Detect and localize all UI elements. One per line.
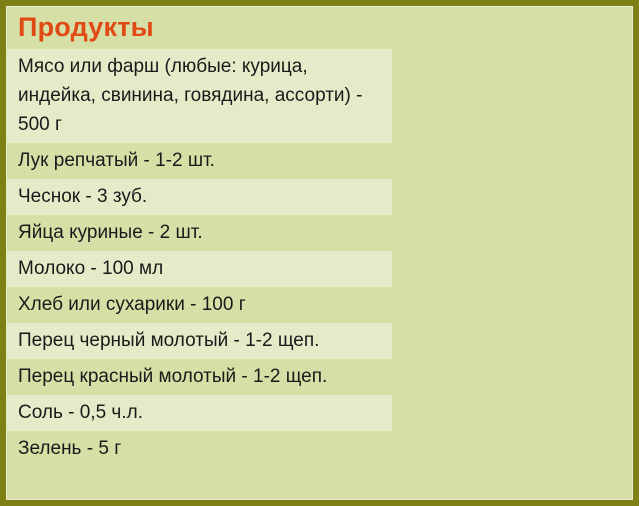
list-item: Яйца куриные - 2 шт. — [6, 215, 392, 251]
list-item: Чеснок - 3 зуб. — [6, 179, 392, 215]
ingredients-panel: Продукты Мясо или фарш (любые: курица, и… — [0, 0, 639, 506]
list-item: Молоко - 100 мл — [6, 251, 392, 287]
list-item: Мясо или фарш (любые: курица, индейка, с… — [6, 49, 392, 143]
page-title: Продукты — [6, 6, 633, 42]
ingredients-panel-body: Продукты Мясо или фарш (любые: курица, и… — [6, 6, 633, 500]
list-item: Хлеб или сухарики - 100 г — [6, 287, 392, 323]
list-item: Соль - 0,5 ч.л. — [6, 395, 392, 431]
ingredients-list: Мясо или фарш (любые: курица, индейка, с… — [6, 49, 633, 467]
list-item: Перец черный молотый - 1-2 щеп. — [6, 323, 392, 359]
list-item: Зелень - 5 г — [6, 431, 392, 467]
list-item: Перец красный молотый - 1-2 щеп. — [6, 359, 392, 395]
list-item: Лук репчатый - 1-2 шт. — [6, 143, 392, 179]
